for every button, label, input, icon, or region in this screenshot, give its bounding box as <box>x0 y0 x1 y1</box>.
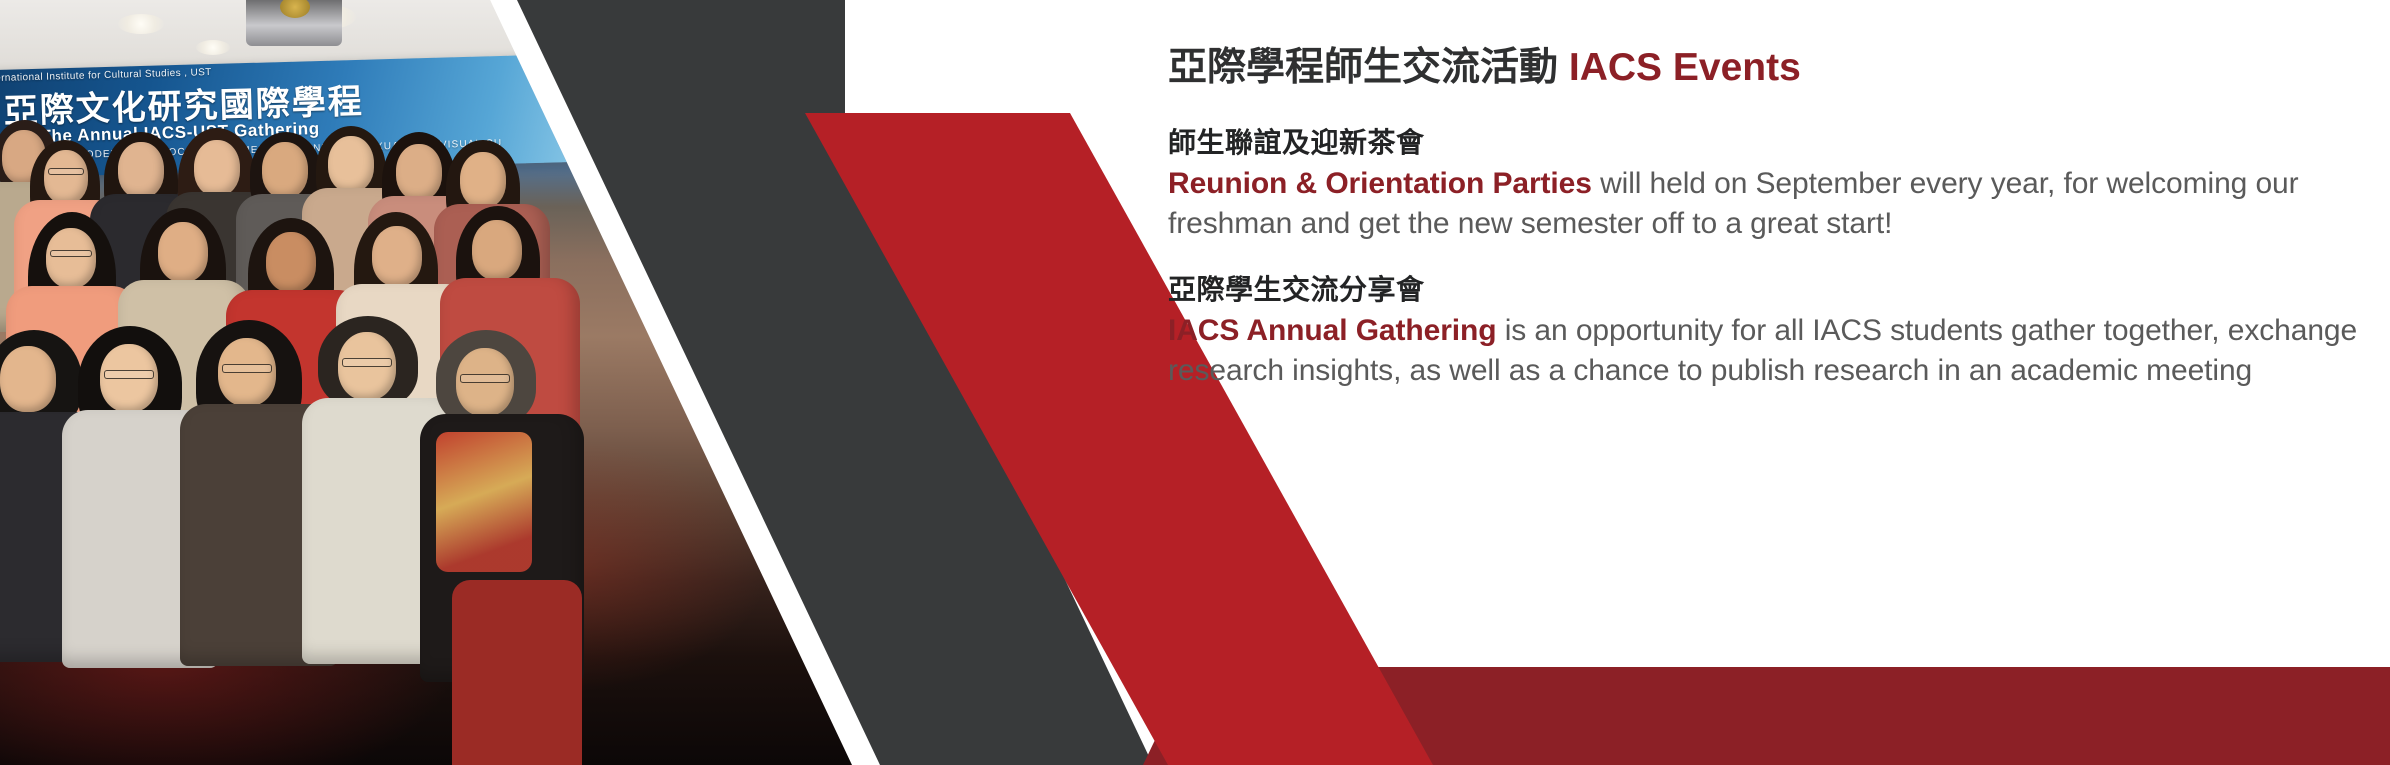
event-accent-term: Reunion & Orientation Parties <box>1168 167 1592 200</box>
page-title-zh: 亞際學程師生交流活動 <box>1168 46 1558 89</box>
event-block-reunion: 師生聯誼及迎新茶會 Reunion & Orientation Parties … <box>1168 123 2358 244</box>
page-title: 亞際學程師生交流活動 IACS Events <box>1168 44 2358 93</box>
event-description: Reunion & Orientation Parties will held … <box>1168 164 2358 244</box>
event-description: IACS Annual Gathering is an opportunity … <box>1168 311 2358 391</box>
charcoal-wedge <box>790 0 845 113</box>
event-block-gathering: 亞際學生交流分享會 IACS Annual Gathering is an op… <box>1168 270 2358 391</box>
page-title-en: IACS Events <box>1569 46 1801 89</box>
event-accent-term: IACS Annual Gathering <box>1168 314 1496 347</box>
event-heading-zh: 亞際學生交流分享會 <box>1168 270 2358 309</box>
iacs-events-banner: International Institute for Cultural Stu… <box>0 0 2390 765</box>
event-heading-zh: 師生聯誼及迎新茶會 <box>1168 123 2358 162</box>
events-text-column: 亞際學程師生交流活動 IACS Events 師生聯誼及迎新茶會 Reunion… <box>1168 0 2358 765</box>
